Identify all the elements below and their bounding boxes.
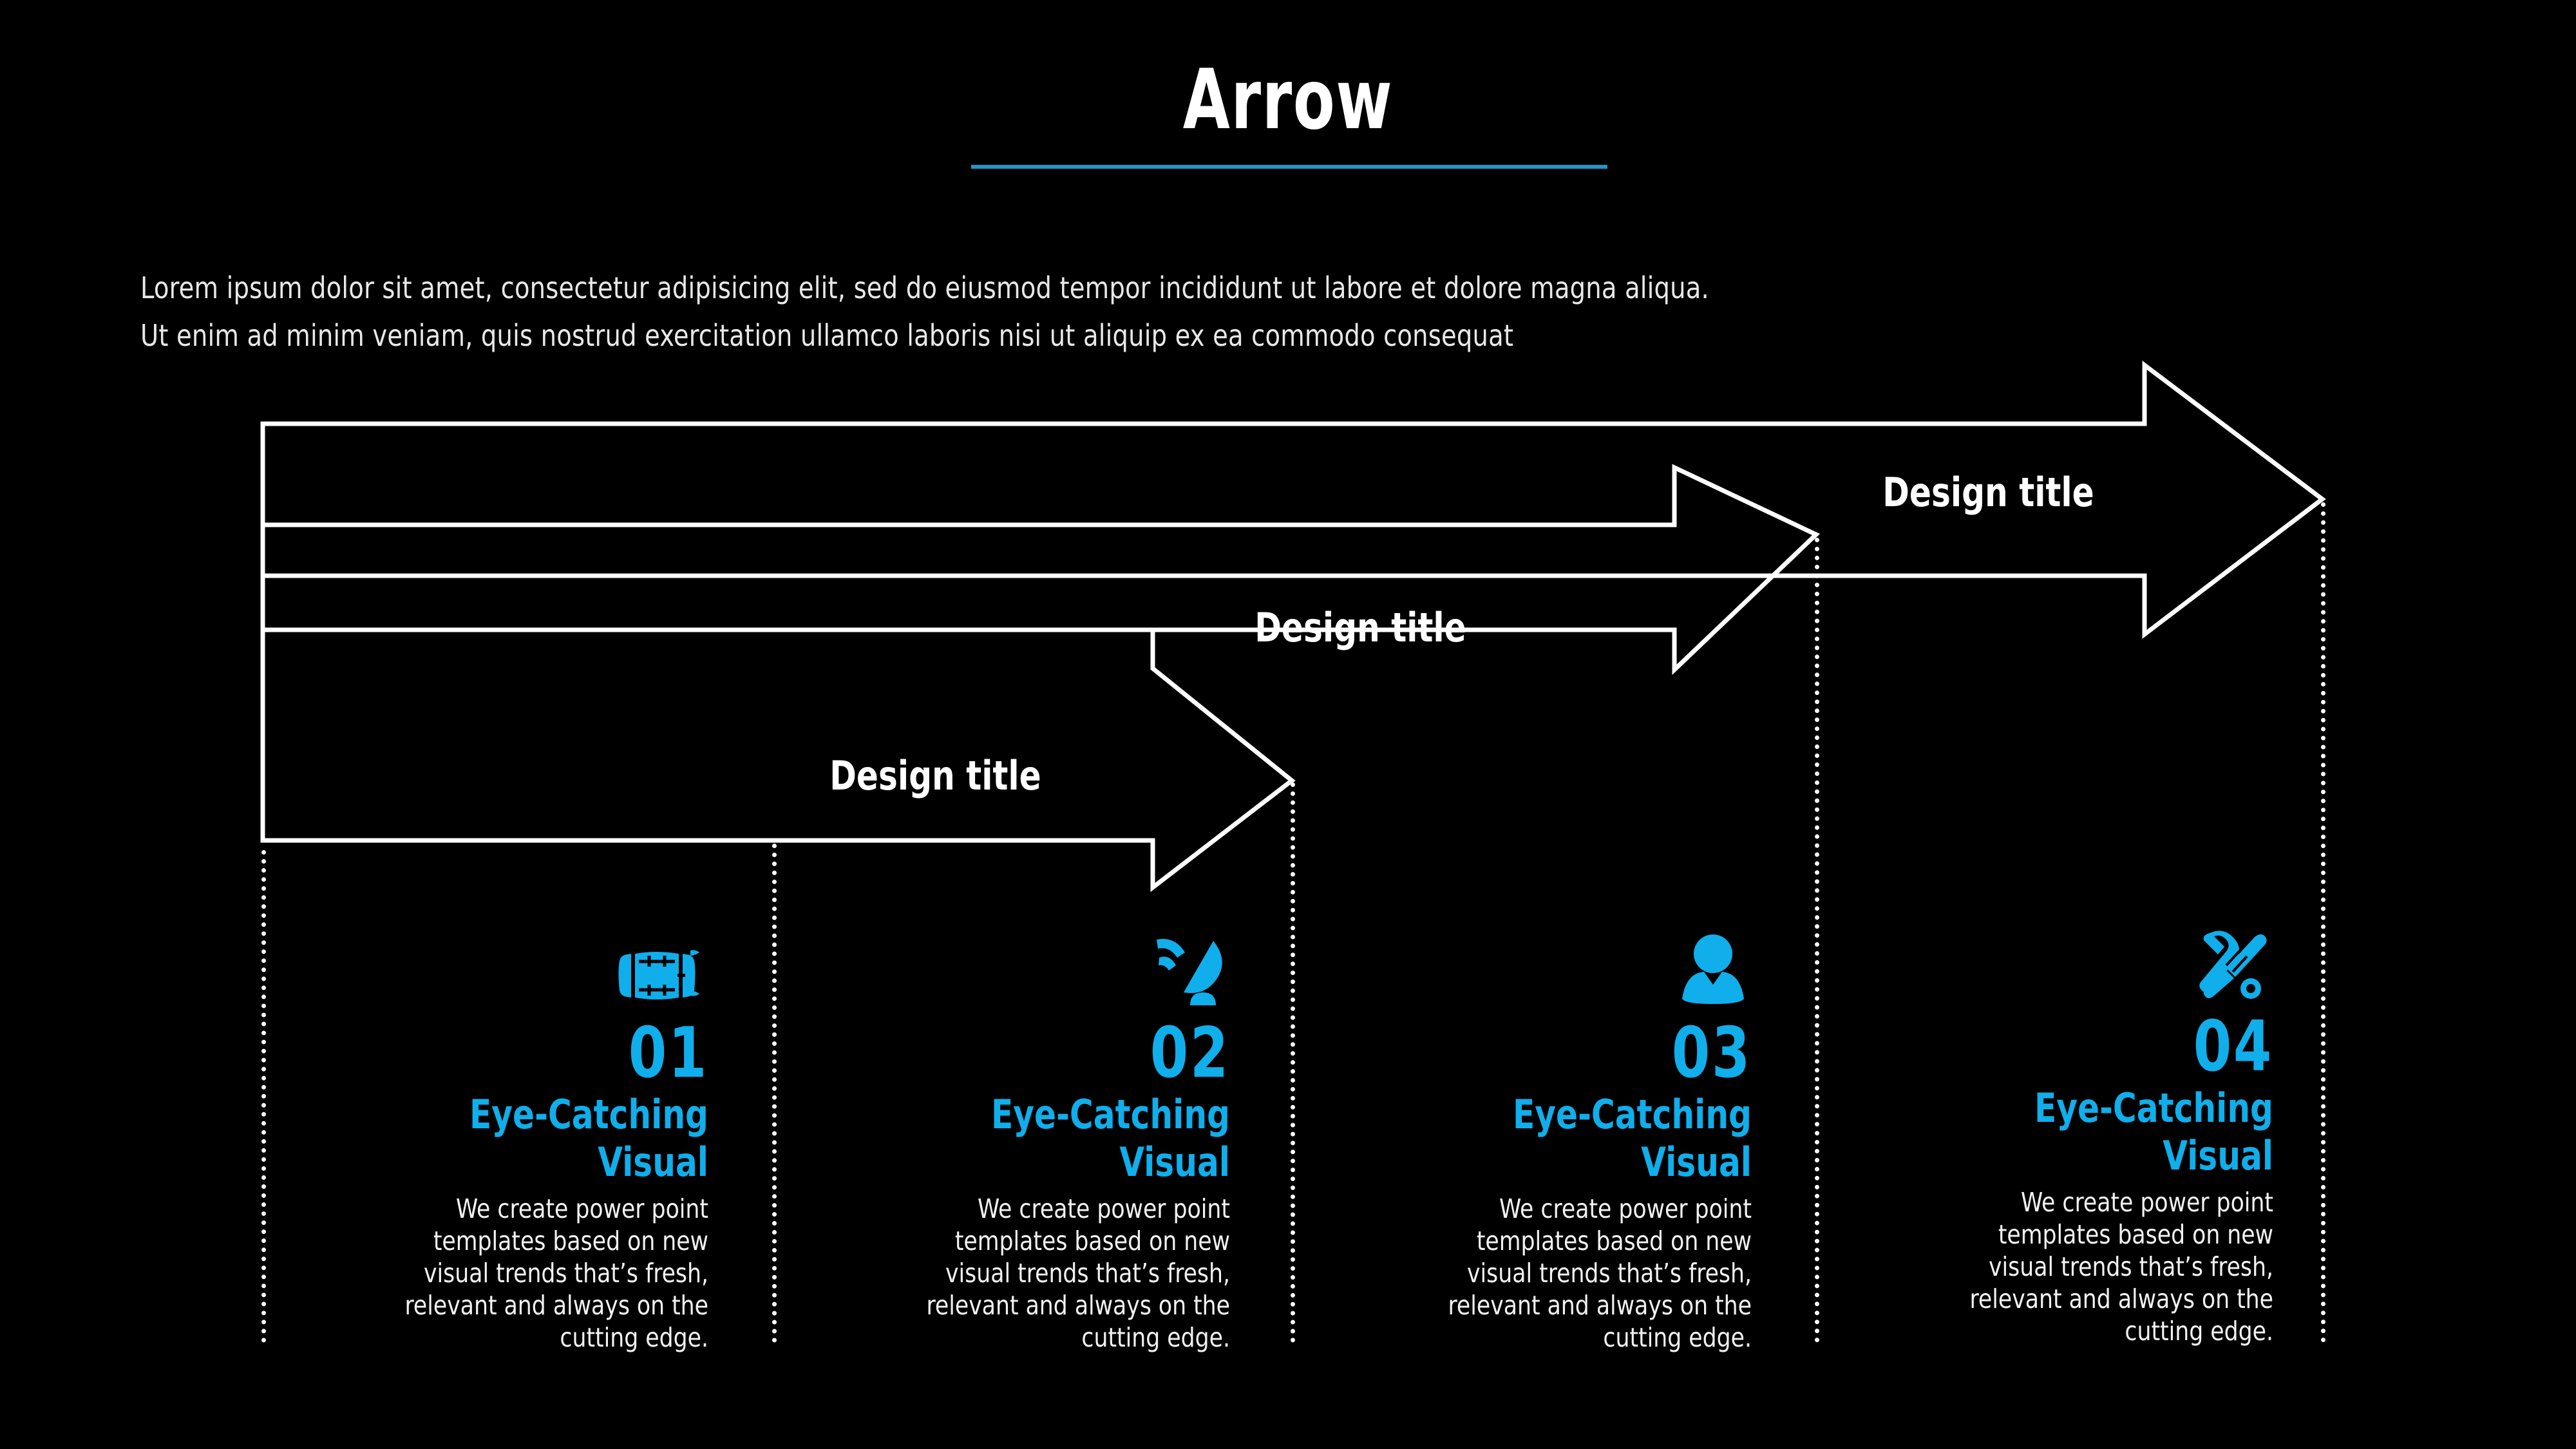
card-heading: Eye-Catching Visual xyxy=(917,1091,1230,1186)
card-body: We create power point templates based on… xyxy=(1946,1186,2273,1347)
divider-2 xyxy=(772,844,777,1343)
card-03: 03 Eye-Catching Visual We create power p… xyxy=(1404,927,1752,1354)
car-icon xyxy=(361,927,708,1011)
divider-5 xyxy=(2321,502,2325,1343)
divider-4 xyxy=(1815,538,1819,1343)
person-icon xyxy=(1404,927,1752,1011)
divider-1 xyxy=(261,850,266,1343)
tools-icon xyxy=(1926,921,2273,1005)
arrow-shape-1 xyxy=(263,630,1292,887)
card-body: We create power point templates based on… xyxy=(1425,1193,1752,1354)
card-04: 04 Eye-Catching Visual We create power p… xyxy=(1926,921,2273,1347)
card-number: 04 xyxy=(1967,1014,2273,1081)
satellite-dish-icon xyxy=(882,927,1230,1011)
slide-canvas: Arrow Lorem ipsum dolor sit amet, consec… xyxy=(0,0,2576,1449)
card-heading: Eye-Catching Visual xyxy=(395,1091,708,1186)
arrow-shape-2 xyxy=(263,468,1816,670)
card-heading: Eye-Catching Visual xyxy=(1439,1091,1752,1186)
divider-3 xyxy=(1291,782,1295,1343)
arrow-label-1: Design title xyxy=(829,752,1041,799)
card-body: We create power point templates based on… xyxy=(381,1193,708,1354)
card-body: We create power point templates based on… xyxy=(903,1193,1230,1354)
card-number: 02 xyxy=(924,1020,1230,1087)
arrow-label-2: Design title xyxy=(1255,604,1466,651)
card-01: 01 Eye-Catching Visual We create power p… xyxy=(361,927,708,1354)
card-02: 02 Eye-Catching Visual We create power p… xyxy=(882,927,1230,1354)
card-number: 01 xyxy=(402,1020,708,1087)
card-number: 03 xyxy=(1446,1020,1752,1087)
card-heading: Eye-Catching Visual xyxy=(1960,1084,2273,1180)
arrow-label-3: Design title xyxy=(1882,469,2094,516)
